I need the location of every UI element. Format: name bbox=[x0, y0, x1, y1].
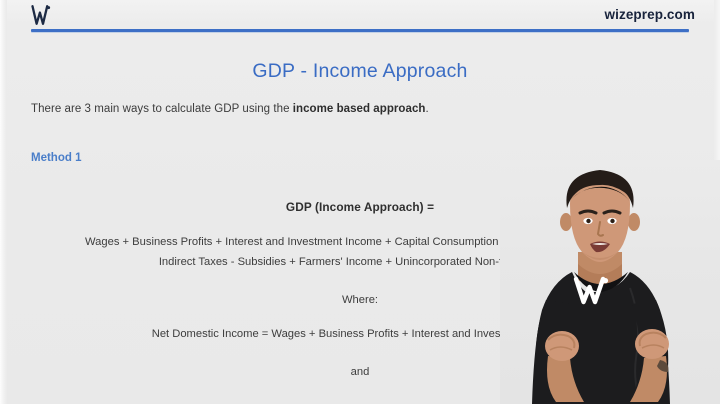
presenter-figure bbox=[500, 160, 720, 404]
slide-header: wizeprep.com bbox=[0, 0, 720, 40]
slide-screenshot: wizeprep.com GDP - Income Approach There… bbox=[0, 0, 720, 404]
header-divider-rule bbox=[31, 29, 689, 32]
intro-emphasis-text: income based approach bbox=[293, 103, 426, 115]
intro-suffix-text: . bbox=[425, 103, 428, 115]
instructor-video-overlay bbox=[500, 160, 720, 404]
method-1-label: Method 1 bbox=[31, 152, 81, 164]
page-title: GDP - Income Approach bbox=[0, 60, 720, 83]
intro-paragraph: There are 3 main ways to calculate GDP u… bbox=[31, 103, 429, 115]
brand-domain-text: wizeprep.com bbox=[605, 7, 695, 22]
intro-prefix-text: There are 3 main ways to calculate GDP u… bbox=[31, 103, 293, 115]
wizeprep-w-logo-icon bbox=[31, 5, 57, 27]
